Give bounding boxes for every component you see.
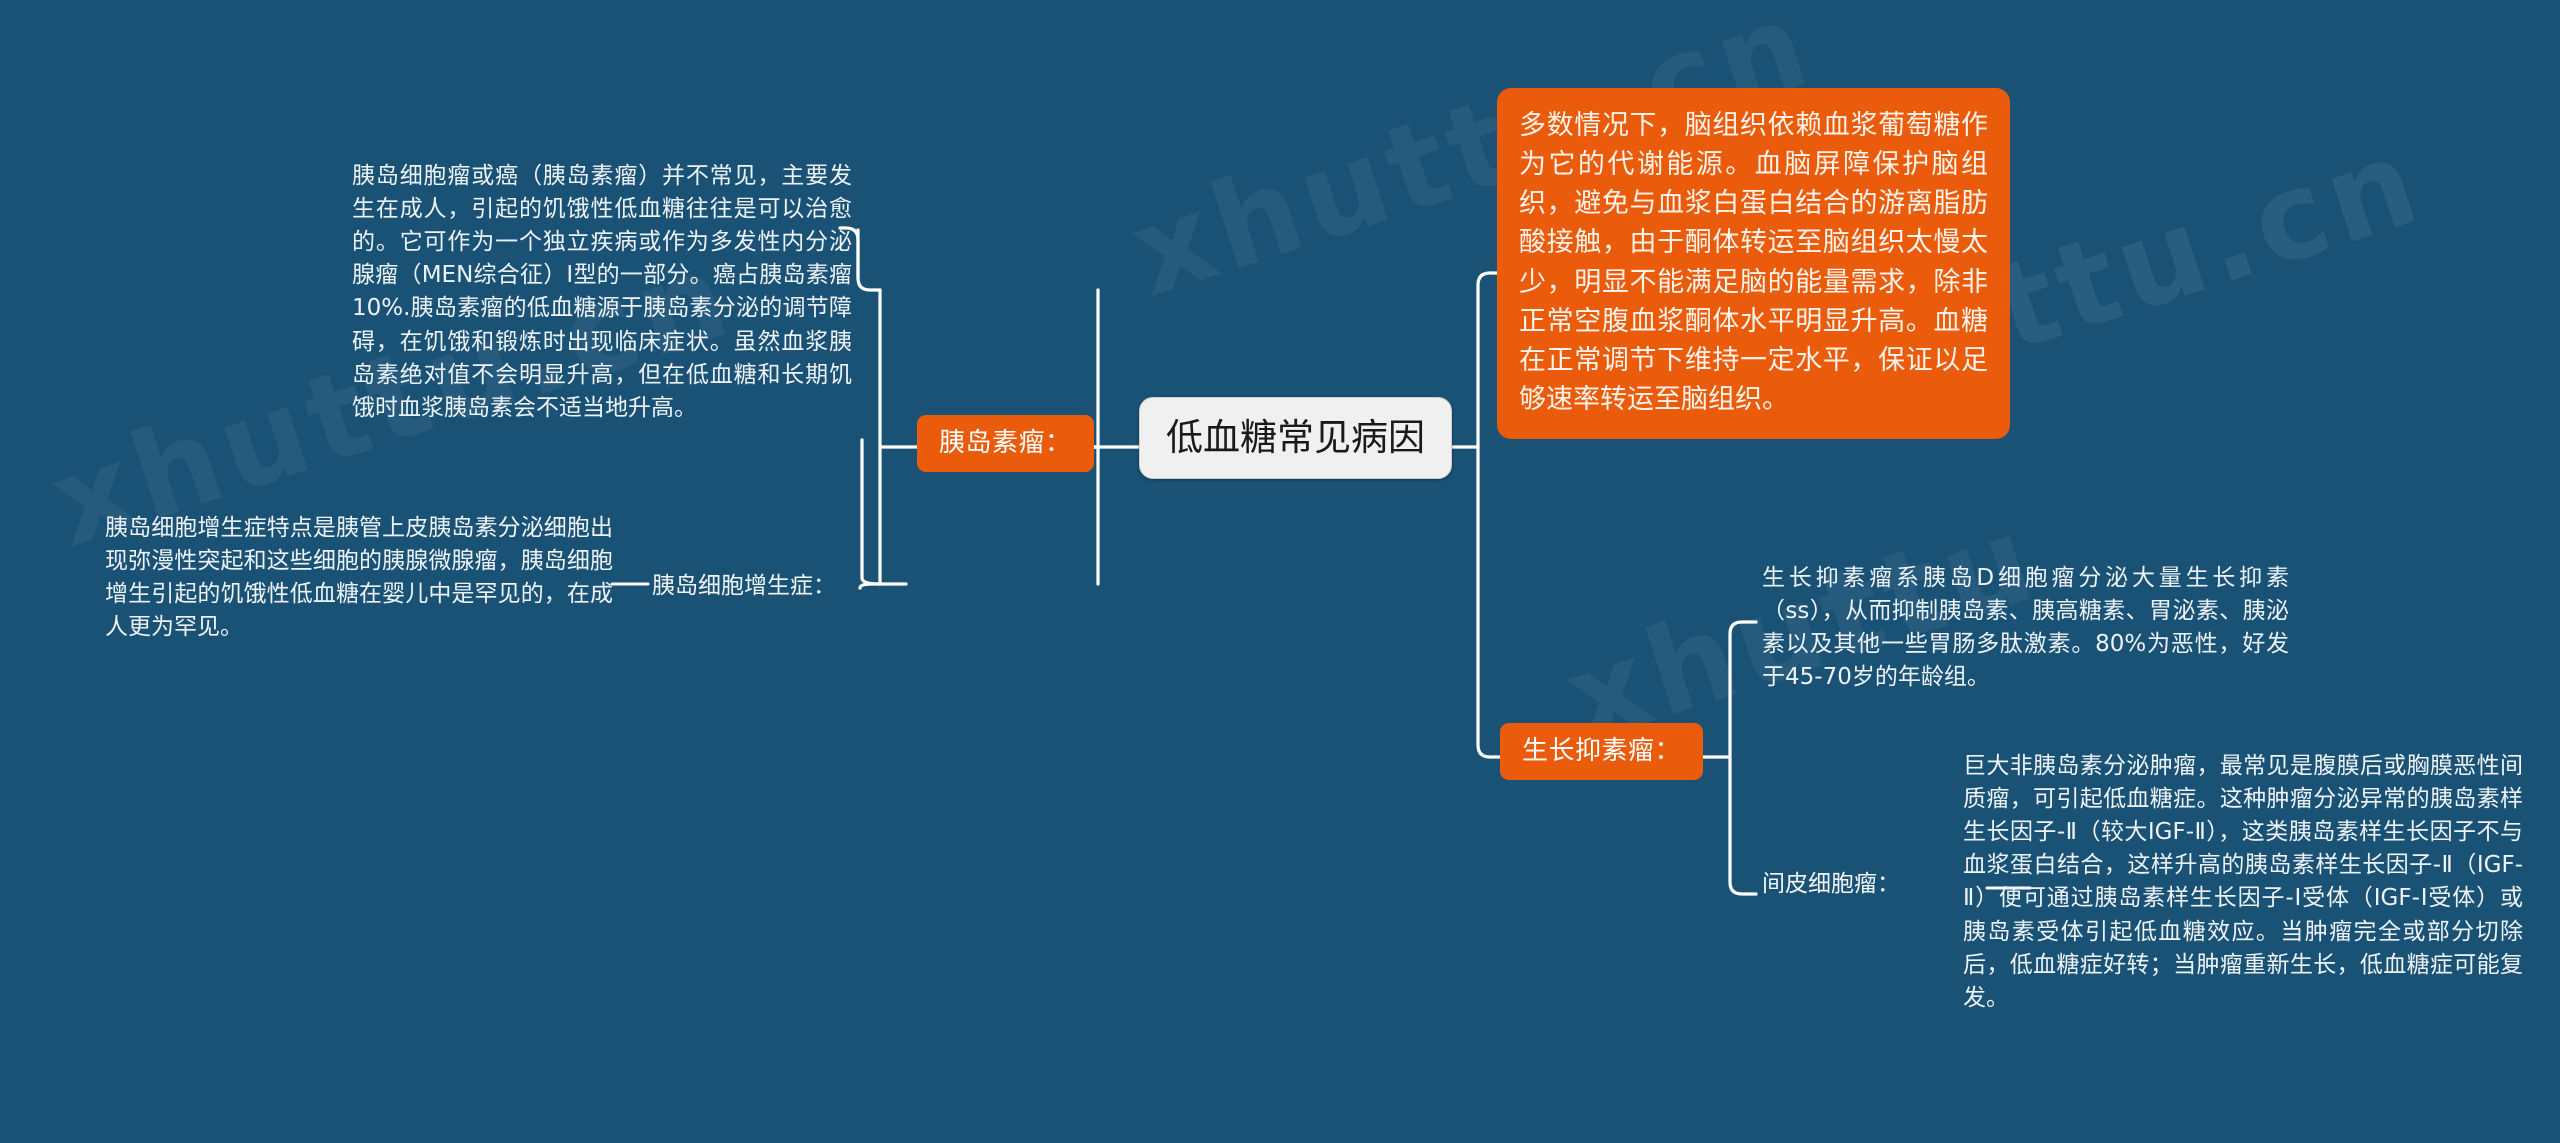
branch-node-somatostatinoma[interactable]: 生长抑素瘤： [1500, 723, 1703, 780]
central-topic-node[interactable]: 低血糖常见病因 [1139, 397, 1452, 479]
mindmap-canvas: xhuttu.cn xhuttu.cn uttu.cn xhuttu [0, 0, 2560, 1143]
detail-text-nesidioblastosis: 胰岛细胞增生症特点是胰管上皮胰岛素分泌细胞出现弥漫性突起和这些细胞的胰腺微腺瘤，… [105, 512, 613, 644]
detail-text-mesothelioma: 巨大非胰岛素分泌肿瘤，最常见是腹膜后或胸膜恶性间质瘤，可引起低血糖症。这种肿瘤分… [1963, 750, 2523, 1015]
detail-text-insulinoma: 胰岛细胞瘤或癌（胰岛素瘤）并不常见，主要发生在成人，引起的饥饿性低血糖往往是可以… [352, 160, 852, 425]
branch-node-insulinoma[interactable]: 胰岛素瘤： [917, 415, 1094, 472]
central-topic-label: 低血糖常见病因 [1166, 416, 1425, 459]
detail-text-somatostatinoma: 生长抑素瘤系胰岛D细胞瘤分泌大量生长抑素（ss），从而抑制胰岛素、胰高糖素、胃泌… [1762, 562, 2289, 694]
branch-label-mesothelioma[interactable]: 间皮细胞瘤： [1762, 870, 1900, 900]
detail-box-brain-glucose[interactable]: 多数情况下，脑组织依赖血浆葡萄糖作为它的代谢能源。血脑屏障保护脑组织，避免与血浆… [1497, 88, 2010, 439]
branch-label-nesidioblastosis[interactable]: 胰岛细胞增生症： [652, 572, 836, 602]
branch-label-insulinoma: 胰岛素瘤： [939, 428, 1072, 458]
branch-label-somatostatinoma: 生长抑素瘤： [1522, 736, 1681, 766]
